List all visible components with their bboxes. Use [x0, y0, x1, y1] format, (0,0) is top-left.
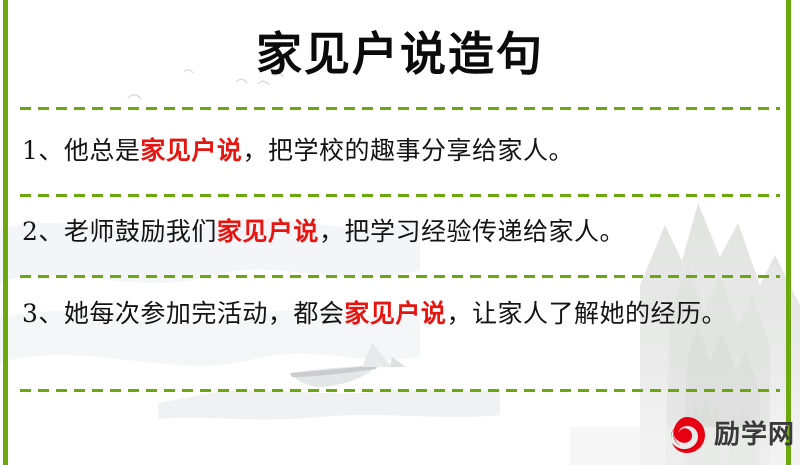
sentence-index-3: 3、: [22, 299, 64, 328]
flame-swirl-icon: [666, 414, 708, 456]
idiom-highlight-2: 家见户说: [217, 217, 319, 246]
idiom-highlight-1: 家见户说: [140, 136, 242, 165]
sentence-index-1: 1、: [22, 136, 64, 165]
divider-after-sentence-3: [20, 389, 780, 392]
page-title: 家见户说造句: [0, 24, 800, 84]
sentence-item-3: 3、她每次参加完活动，都会家见户说，让家人了解她的经历。: [0, 275, 800, 389]
sentence-text-after-1: ，把学校的趣事分享给家人。: [242, 136, 574, 165]
sentence-text-after-2: ，把学习经验传递给家人。: [319, 217, 625, 246]
site-watermark-logo: 励学网: [666, 414, 795, 456]
sentence-list: 1、他总是家见户说，把学校的趣事分享给家人。 2、老师鼓励我们家见户说，把学习经…: [0, 107, 800, 389]
sentence-text-before-2: 老师鼓励我们: [64, 217, 217, 246]
site-brand-name: 励学网: [714, 420, 795, 450]
sentence-item-1: 1、他总是家见户说，把学校的趣事分享给家人。: [0, 107, 800, 194]
sentence-text-before-3: 她每次参加完活动，都会: [64, 299, 345, 328]
sentence-index-2: 2、: [22, 217, 64, 246]
sentence-text-before-1: 他总是: [64, 136, 141, 165]
idiom-highlight-3: 家见户说: [344, 299, 446, 328]
sentence-item-2: 2、老师鼓励我们家见户说，把学习经验传递给家人。: [0, 194, 800, 275]
poster-canvas: 家见户说造句 1、他总是家见户说，把学校的趣事分享给家人。 2、老师鼓励我们家见…: [0, 0, 800, 465]
sentence-text-after-3: ，让家人了解她的经历。: [446, 299, 727, 328]
